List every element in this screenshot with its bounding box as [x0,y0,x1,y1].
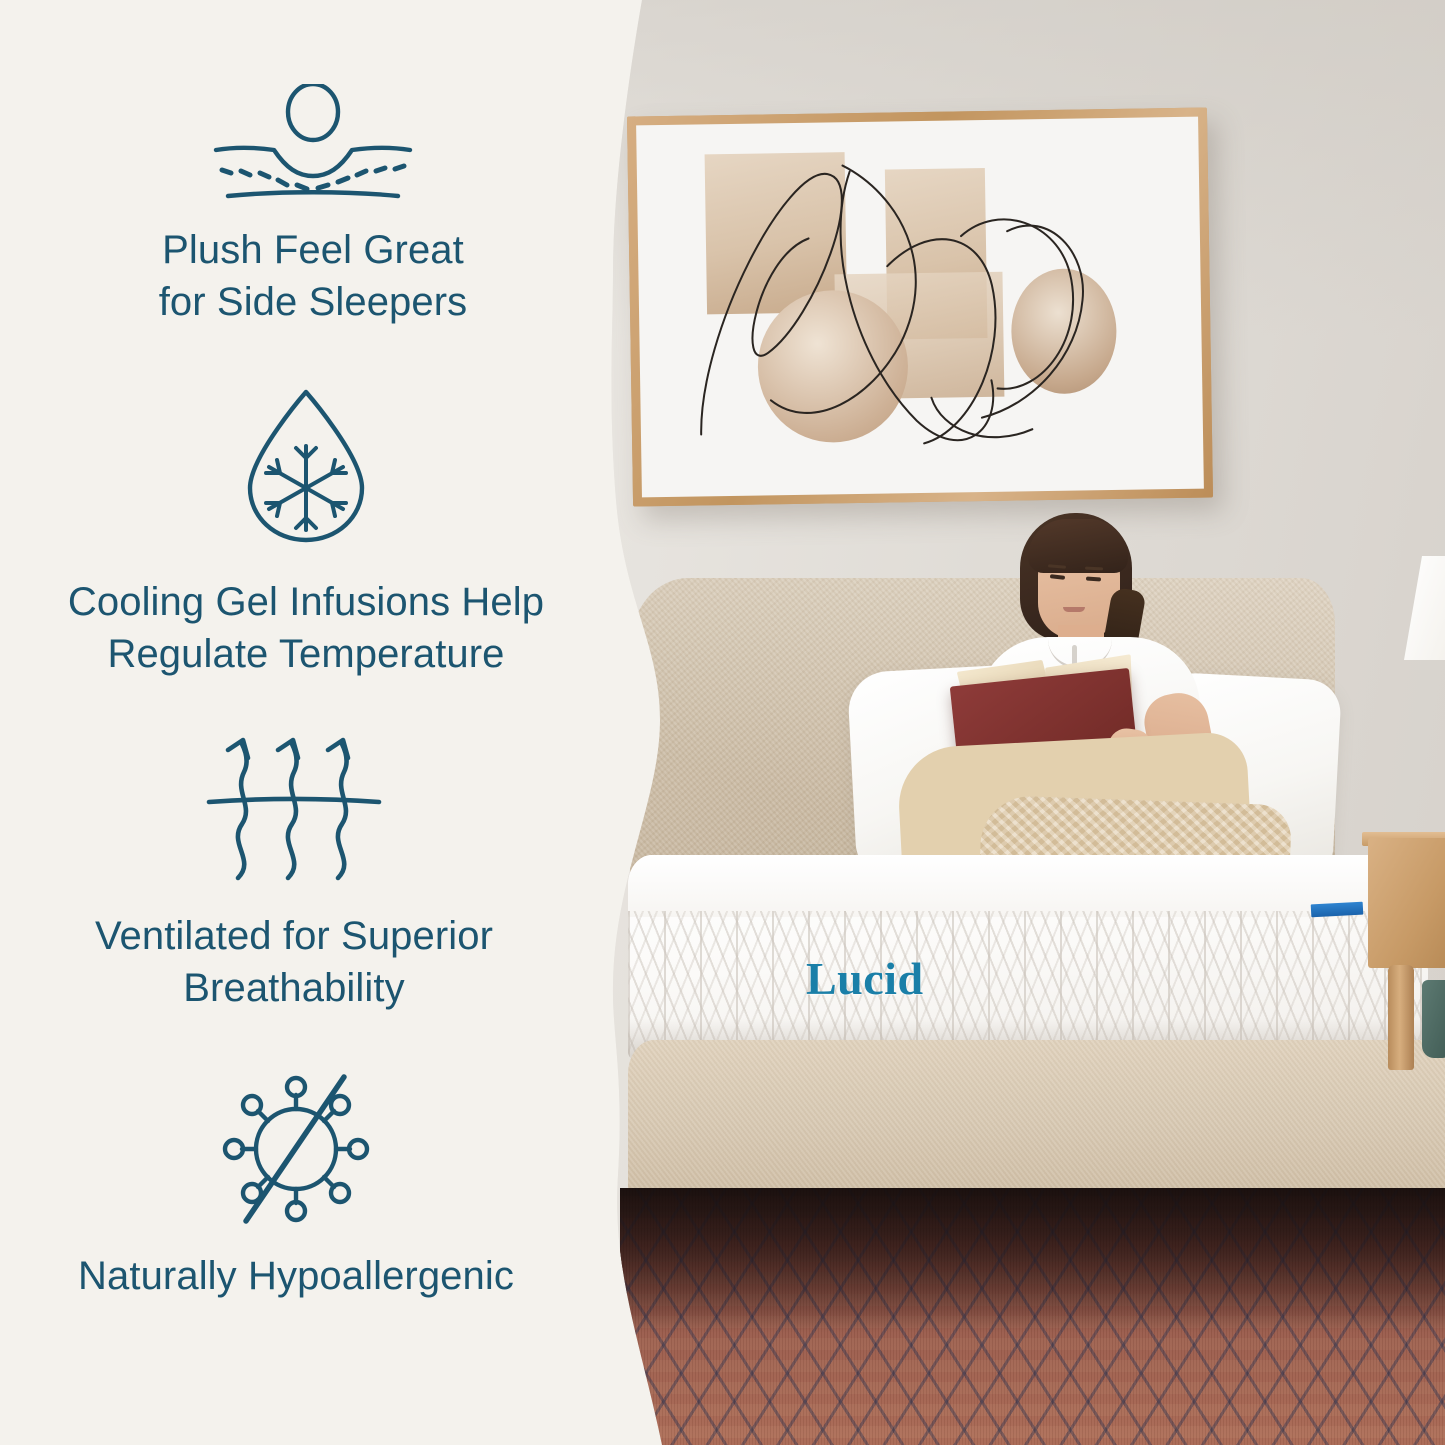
artwork-canvas [636,117,1204,498]
mattress-top-surface [628,855,1428,917]
cooling-droplet-snowflake-icon [6,378,606,558]
feature-label: Cooling Gel Infusions Help Regulate Temp… [6,576,606,680]
nightstand [1368,838,1445,968]
feature-label: Ventilated for Superior Breathability [0,910,594,1014]
infographic-canvas: Lucid Plush Feel Great for Side Sleepers [0,0,1445,1445]
body-pressure-relief-icon [13,76,613,206]
rug-shadow [620,1188,1445,1333]
feature-cooling-gel: Cooling Gel Infusions Help Regulate Temp… [6,378,606,680]
vase [1422,980,1445,1058]
mouth [1063,607,1085,612]
artwork-mat [636,117,1204,498]
feature-plush-side-sleepers: Plush Feel Great for Side Sleepers [13,76,613,328]
art-scribble-lines [636,117,1204,498]
mattress-law-tag [1311,902,1364,918]
feature-label: Naturally Hypoallergenic [0,1250,596,1302]
mattress [628,855,1428,1060]
nightstand-leg [1388,965,1414,1070]
feature-list-panel: Plush Feel Great for Side Sleepers [0,0,640,1445]
hair-front [1028,519,1128,573]
allergen-blocked-icon [0,1062,596,1232]
feature-label: Plush Feel Great for Side Sleepers [13,224,613,328]
airflow-arrows-icon [0,722,594,892]
feature-ventilated: Ventilated for Superior Breathability [0,722,594,1014]
framed-artwork [627,107,1213,506]
lucid-brand-logo: Lucid [806,952,924,1005]
feature-hypoallergenic: Naturally Hypoallergenic [0,1062,596,1302]
